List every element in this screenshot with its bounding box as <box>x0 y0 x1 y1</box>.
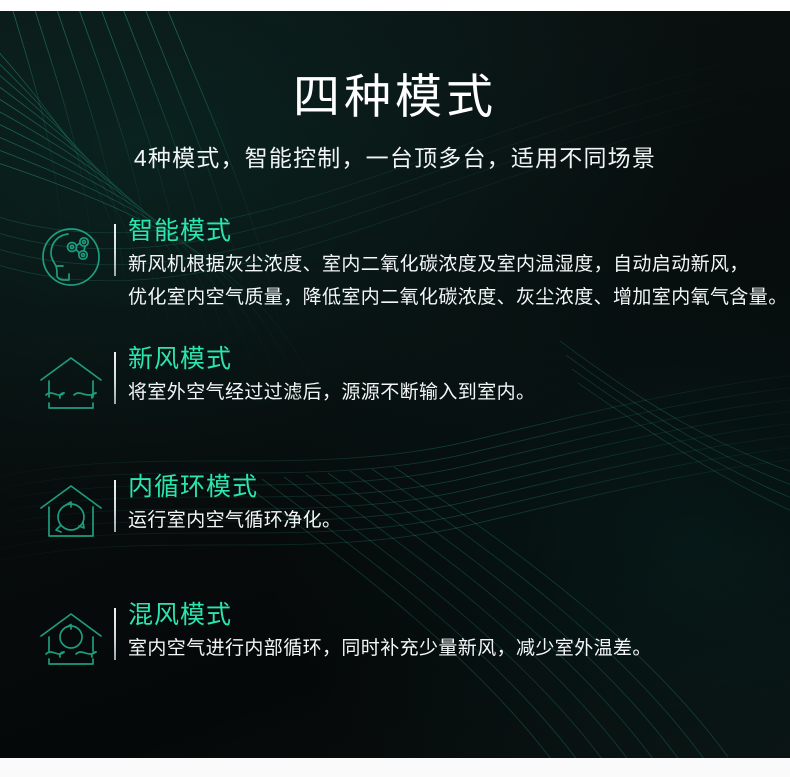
mode-desc-internal-circulation-line1: 运行室内空气循环净化。 <box>128 506 788 535</box>
page-title: 四种模式 <box>0 71 790 123</box>
mode-divider-internal-circulation <box>114 480 116 532</box>
bottom-white-margin <box>0 758 790 777</box>
mode-desc-smart-line1: 新风机根据灰尘浓度、室内二氧化碳浓度及室内温湿度，自动启动新风， <box>128 250 788 279</box>
mode-item-mixed-air: 混风模式 室内空气进行内部循环，同时补充少量新风，减少室外温差。 <box>0 600 790 728</box>
mode-title-internal-circulation: 内循环模式 <box>128 472 788 503</box>
page-subtitle: 4种模式，智能控制，一台顶多台，适用不同场景 <box>0 144 790 174</box>
mode-desc-fresh-air-line1: 将室外空气经过过滤后，源源不断输入到室内。 <box>128 378 788 407</box>
mode-text-mixed-air: 混风模式 室内空气进行内部循环，同时补充少量新风，减少室外温差。 <box>128 600 788 664</box>
mode-text-smart: 智能模式 新风机根据灰尘浓度、室内二氧化碳浓度及室内温湿度，自动启动新风， 优化… <box>128 216 788 312</box>
mode-divider-smart <box>114 224 116 276</box>
house-with-airflow-icon <box>36 350 106 420</box>
mode-list: 智能模式 新风机根据灰尘浓度、室内二氧化碳浓度及室内温湿度，自动启动新风， 优化… <box>0 216 790 728</box>
mode-text-internal-circulation: 内循环模式 运行室内空气循环净化。 <box>128 472 788 536</box>
house-with-mixed-airflow-icon <box>36 606 106 676</box>
top-white-margin <box>0 0 790 11</box>
house-with-circulation-icon <box>36 478 106 548</box>
mode-item-fresh-air: 新风模式 将室外空气经过过滤后，源源不断输入到室内。 <box>0 344 790 472</box>
mode-title-smart: 智能模式 <box>128 216 788 247</box>
head-in-circle-smart-sensor-icon <box>36 222 106 292</box>
mode-item-smart: 智能模式 新风机根据灰尘浓度、室内二氧化碳浓度及室内温湿度，自动启动新风， 优化… <box>0 216 790 344</box>
mode-title-mixed-air: 混风模式 <box>128 600 788 631</box>
mode-desc-mixed-air-line1: 室内空气进行内部循环，同时补充少量新风，减少室外温差。 <box>128 634 788 663</box>
mode-title-fresh-air: 新风模式 <box>128 344 788 375</box>
product-feature-page: 四种模式 4种模式，智能控制，一台顶多台，适用不同场景 <box>0 0 790 777</box>
mode-divider-fresh-air <box>114 352 116 404</box>
mode-divider-mixed-air <box>114 608 116 660</box>
mode-desc-smart-line2: 优化室内空气质量，降低室内二氧化碳浓度、灰尘浓度、增加室内氧气含量。 <box>128 283 788 312</box>
mode-text-fresh-air: 新风模式 将室外空气经过过滤后，源源不断输入到室内。 <box>128 344 788 408</box>
dark-hero-stage: 四种模式 4种模式，智能控制，一台顶多台，适用不同场景 <box>0 11 790 758</box>
mode-item-internal-circulation: 内循环模式 运行室内空气循环净化。 <box>0 472 790 600</box>
page-content: 四种模式 4种模式，智能控制，一台顶多台，适用不同场景 <box>0 11 790 758</box>
